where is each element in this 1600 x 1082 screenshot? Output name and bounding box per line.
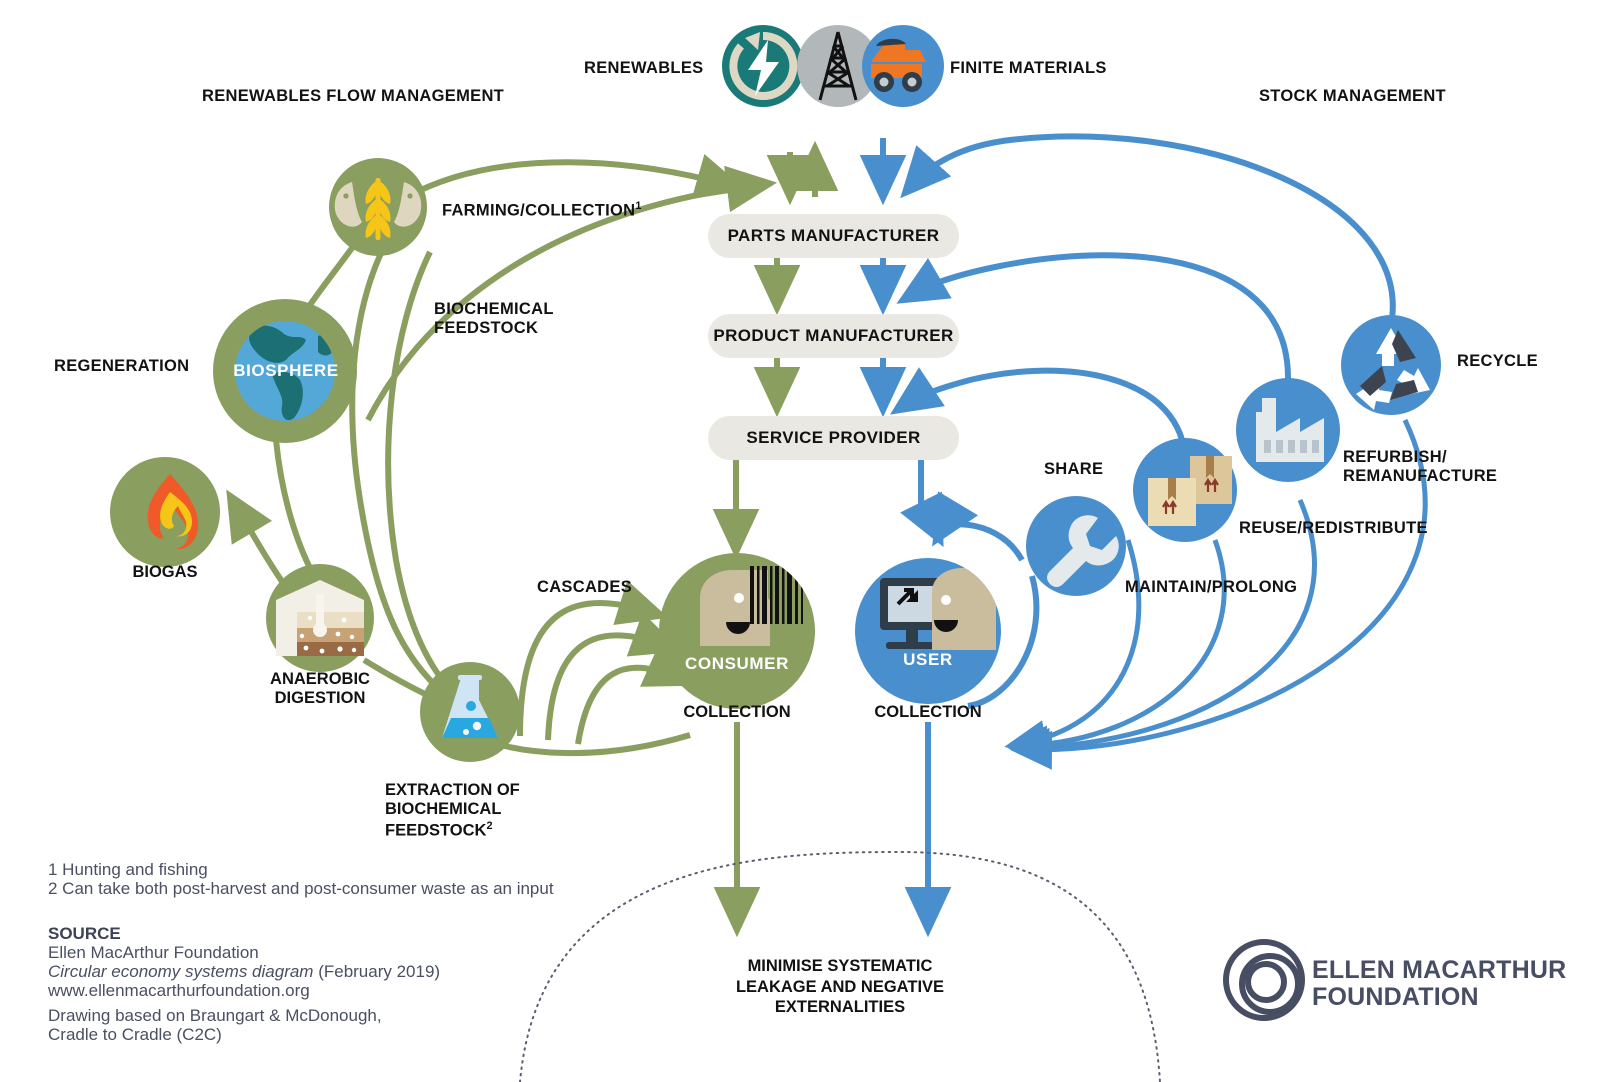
label-farming-collection: FARMING/COLLECTION1	[442, 200, 642, 220]
svg-text:USER: USER	[903, 650, 953, 669]
label-extraction-biochemical-feedstock: EXTRACTION OFBIOCHEMICALFEEDSTOCK2	[385, 781, 565, 841]
label-refurbish-remanufacture: REFURBISH/REMANUFACTURE	[1343, 448, 1497, 486]
service-provider-box[interactable]: SERVICE PROVIDER	[708, 416, 959, 460]
flow-graphics: CONSUMER USER	[0, 0, 1600, 1082]
label-recycle: RECYCLE	[1457, 352, 1538, 371]
label-cascades: CASCADES	[537, 578, 632, 597]
label-stock-management: STOCK MANAGEMENT	[1259, 87, 1446, 106]
label-share: SHARE	[1044, 460, 1103, 479]
label-biogas: BIOGAS	[105, 563, 225, 582]
recycle-icon-group	[1341, 315, 1441, 415]
anaerobic-icon-group	[266, 564, 374, 672]
label-minimise-leakage: MINIMISE SYSTEMATICLEAKAGE AND NEGATIVEE…	[690, 956, 990, 1018]
label-reuse-redistribute: REUSE/REDISTRIBUTE	[1239, 519, 1428, 538]
parts-manufacturer-box[interactable]: PARTS MANUFACTURER	[708, 214, 959, 258]
extraction-icon-group	[420, 662, 520, 762]
source-doc-date: (February 2019)	[313, 962, 440, 981]
mining-truck-icon-group	[862, 25, 944, 107]
svg-text:CONSUMER: CONSUMER	[685, 654, 789, 673]
logo-mark-group	[1226, 942, 1302, 1018]
source-drawing-2: Cradle to Cradle (C2C)	[48, 1023, 222, 1048]
label-biochemical-feedstock: BIOCHEMICALFEEDSTOCK	[434, 300, 554, 338]
label-anaerobic-digestion: ANAEROBICDIGESTION	[255, 670, 385, 709]
label-regeneration: REGENERATION	[54, 357, 189, 376]
biosphere-label: BIOSPHERE	[230, 361, 342, 381]
consumer-icon-group: CONSUMER	[659, 553, 815, 709]
biogas-icon-group	[110, 457, 220, 567]
share-icon-group	[1026, 496, 1126, 596]
farming-icon-group	[329, 158, 427, 256]
maintain-icon-group	[1133, 438, 1237, 542]
user-icon-group: USER	[855, 558, 1001, 704]
label-user-collection: COLLECTION	[858, 703, 998, 722]
footnote-2: 2 Can take both post-harvest and post-co…	[48, 877, 554, 902]
renewables-icon-group	[722, 25, 804, 107]
source-website[interactable]: www.ellenmacarthurfoundation.org	[48, 979, 310, 1004]
label-maintain-prolong: MAINTAIN/PROLONG	[1125, 578, 1297, 597]
label-consumer-collection: COLLECTION	[667, 703, 807, 722]
label-renewables: RENEWABLES	[584, 59, 703, 78]
diagram-canvas: CONSUMER USER	[0, 0, 1600, 1082]
product-manufacturer-box[interactable]: PRODUCT MANUFACTURER	[708, 314, 959, 358]
logo-wordmark: ELLEN MACARTHURFOUNDATION	[1312, 957, 1566, 1011]
reuse-icon-group	[1236, 378, 1340, 482]
label-finite-materials: FINITE MATERIALS	[950, 59, 1107, 78]
label-renewables-flow-management: RENEWABLES FLOW MANAGEMENT	[202, 87, 504, 106]
